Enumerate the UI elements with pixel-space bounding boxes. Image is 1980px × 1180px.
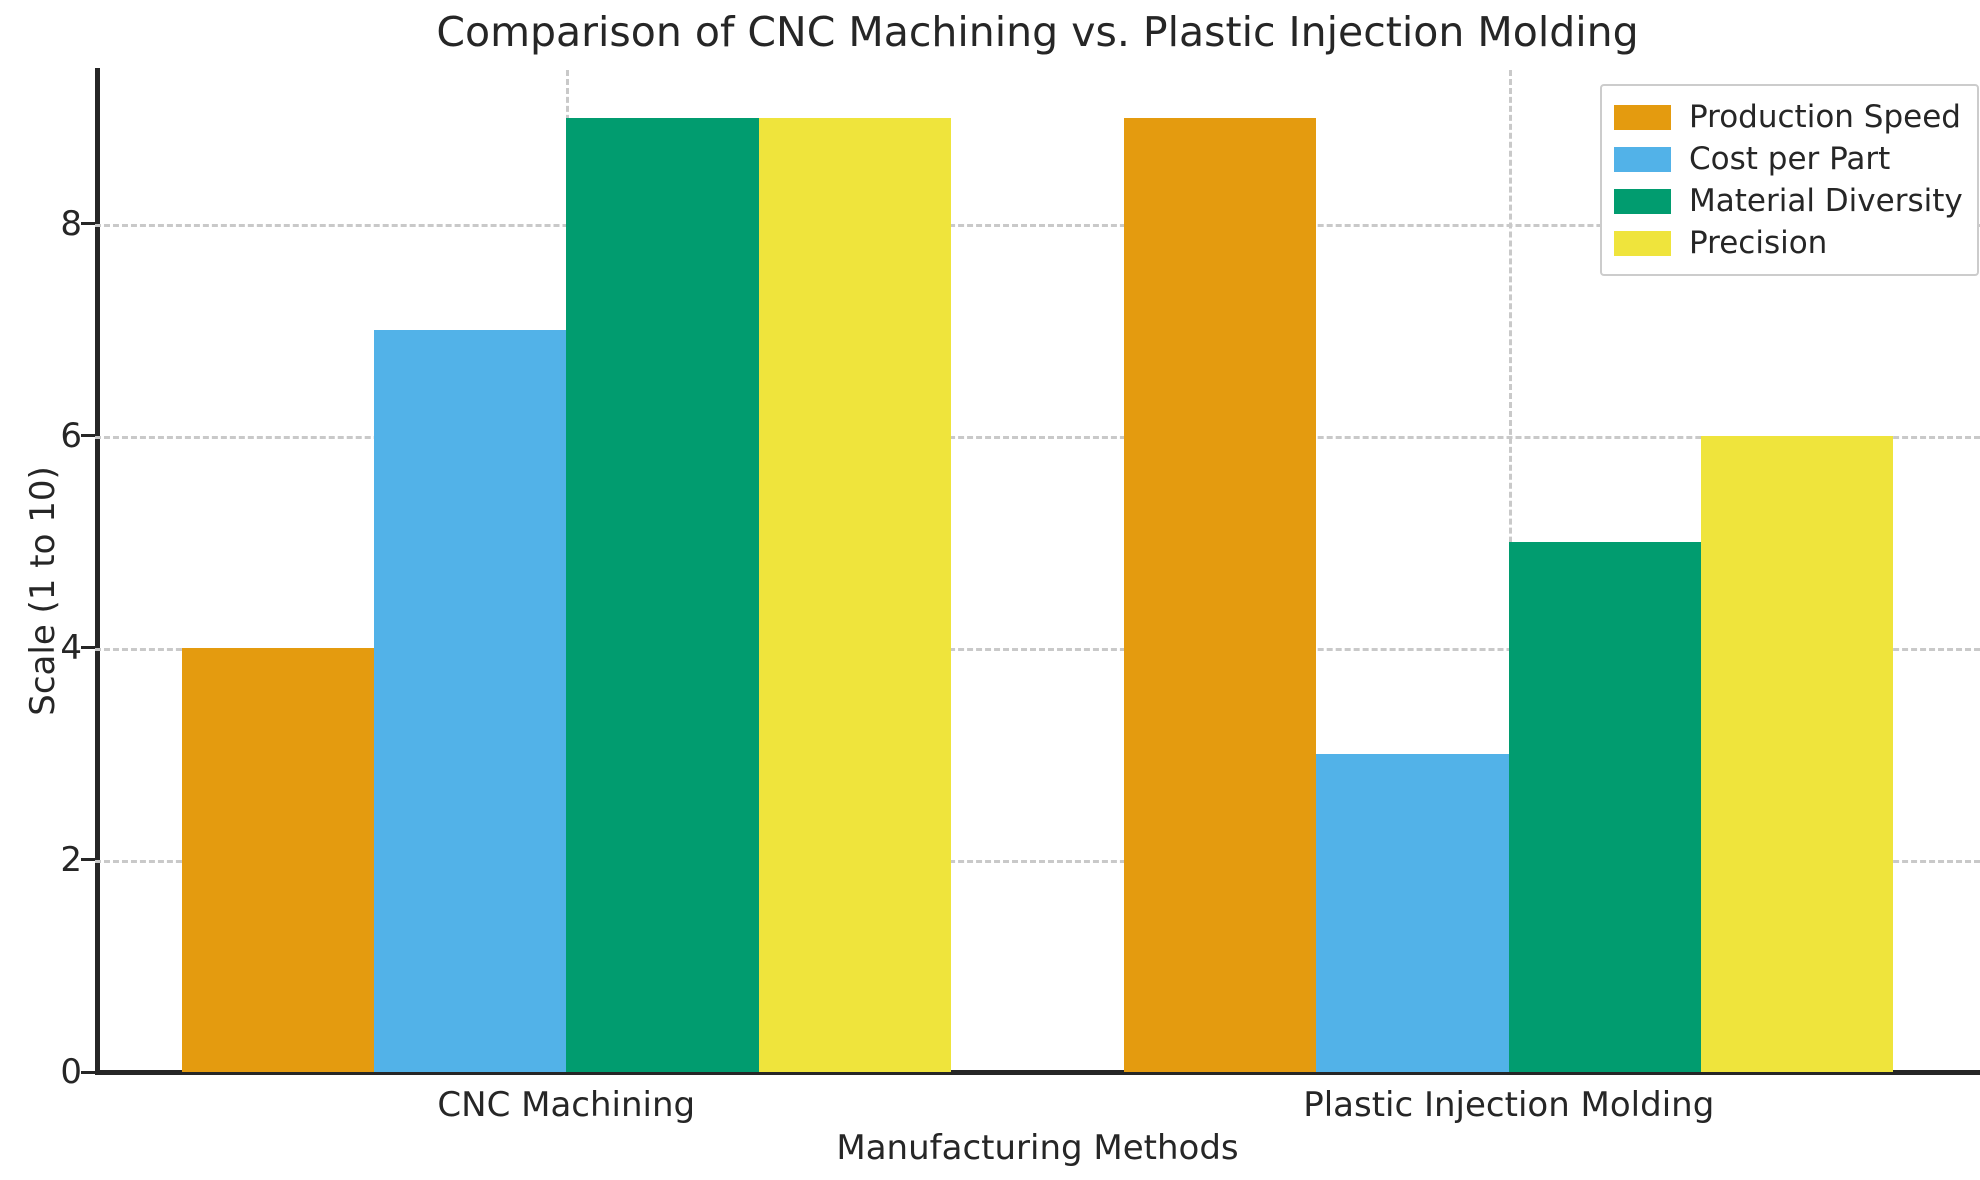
legend-swatch-icon-cost-per-part [1614, 147, 1671, 172]
legend-item-production-speed[interactable]: Production Speed [1614, 96, 1963, 138]
bar-plastic-injection-molding-cost-per-part [1316, 754, 1508, 1072]
bar-cnc-machining-material-diversity [566, 118, 758, 1072]
chart-figure: Comparison of CNC Machining vs. Plastic … [0, 0, 1980, 1180]
y-tick-mark-8 [81, 222, 95, 225]
x-tick-label-cnc-machining: CNC Machining [437, 1085, 695, 1125]
legend-item-cost-per-part[interactable]: Cost per Part [1614, 138, 1963, 180]
legend-label: Material Diversity [1689, 186, 1963, 217]
y-tick-mark-0 [81, 1071, 95, 1074]
y-tick-label-0: 0 [60, 1055, 82, 1089]
legend-label: Production Speed [1689, 102, 1961, 133]
y-tick-label-2: 2 [60, 843, 82, 877]
y-tick-label-4: 4 [60, 631, 82, 665]
bar-plastic-injection-molding-material-diversity [1509, 542, 1701, 1072]
bar-cnc-machining-precision [759, 118, 951, 1072]
legend-swatch-icon-precision [1614, 231, 1671, 256]
legend-label: Precision [1689, 228, 1827, 259]
bar-cnc-machining-production-speed [182, 648, 374, 1072]
y-tick-mark-2 [81, 858, 95, 861]
chart-legend: Production SpeedCost per PartMaterial Di… [1600, 84, 1979, 276]
y-tick-label-6: 6 [60, 419, 82, 453]
x-axis-title: Manufacturing Methods [95, 1128, 1980, 1168]
legend-swatch-icon-production-speed [1614, 105, 1671, 130]
bar-plastic-injection-molding-precision [1701, 436, 1893, 1072]
legend-swatch-icon-material-diversity [1614, 189, 1671, 214]
y-tick-mark-4 [81, 646, 95, 649]
bar-plastic-injection-molding-production-speed [1124, 118, 1316, 1072]
legend-item-material-diversity[interactable]: Material Diversity [1614, 180, 1963, 222]
x-tick-label-plastic-injection-molding: Plastic Injection Molding [1303, 1085, 1714, 1125]
chart-title: Comparison of CNC Machining vs. Plastic … [95, 8, 1980, 56]
legend-item-precision[interactable]: Precision [1614, 222, 1963, 264]
y-tick-mark-6 [81, 434, 95, 437]
y-tick-label-8: 8 [60, 207, 82, 241]
legend-label: Cost per Part [1689, 144, 1890, 175]
y-axis-title: Scale (1 to 10) [23, 341, 63, 841]
bar-cnc-machining-cost-per-part [374, 330, 566, 1072]
